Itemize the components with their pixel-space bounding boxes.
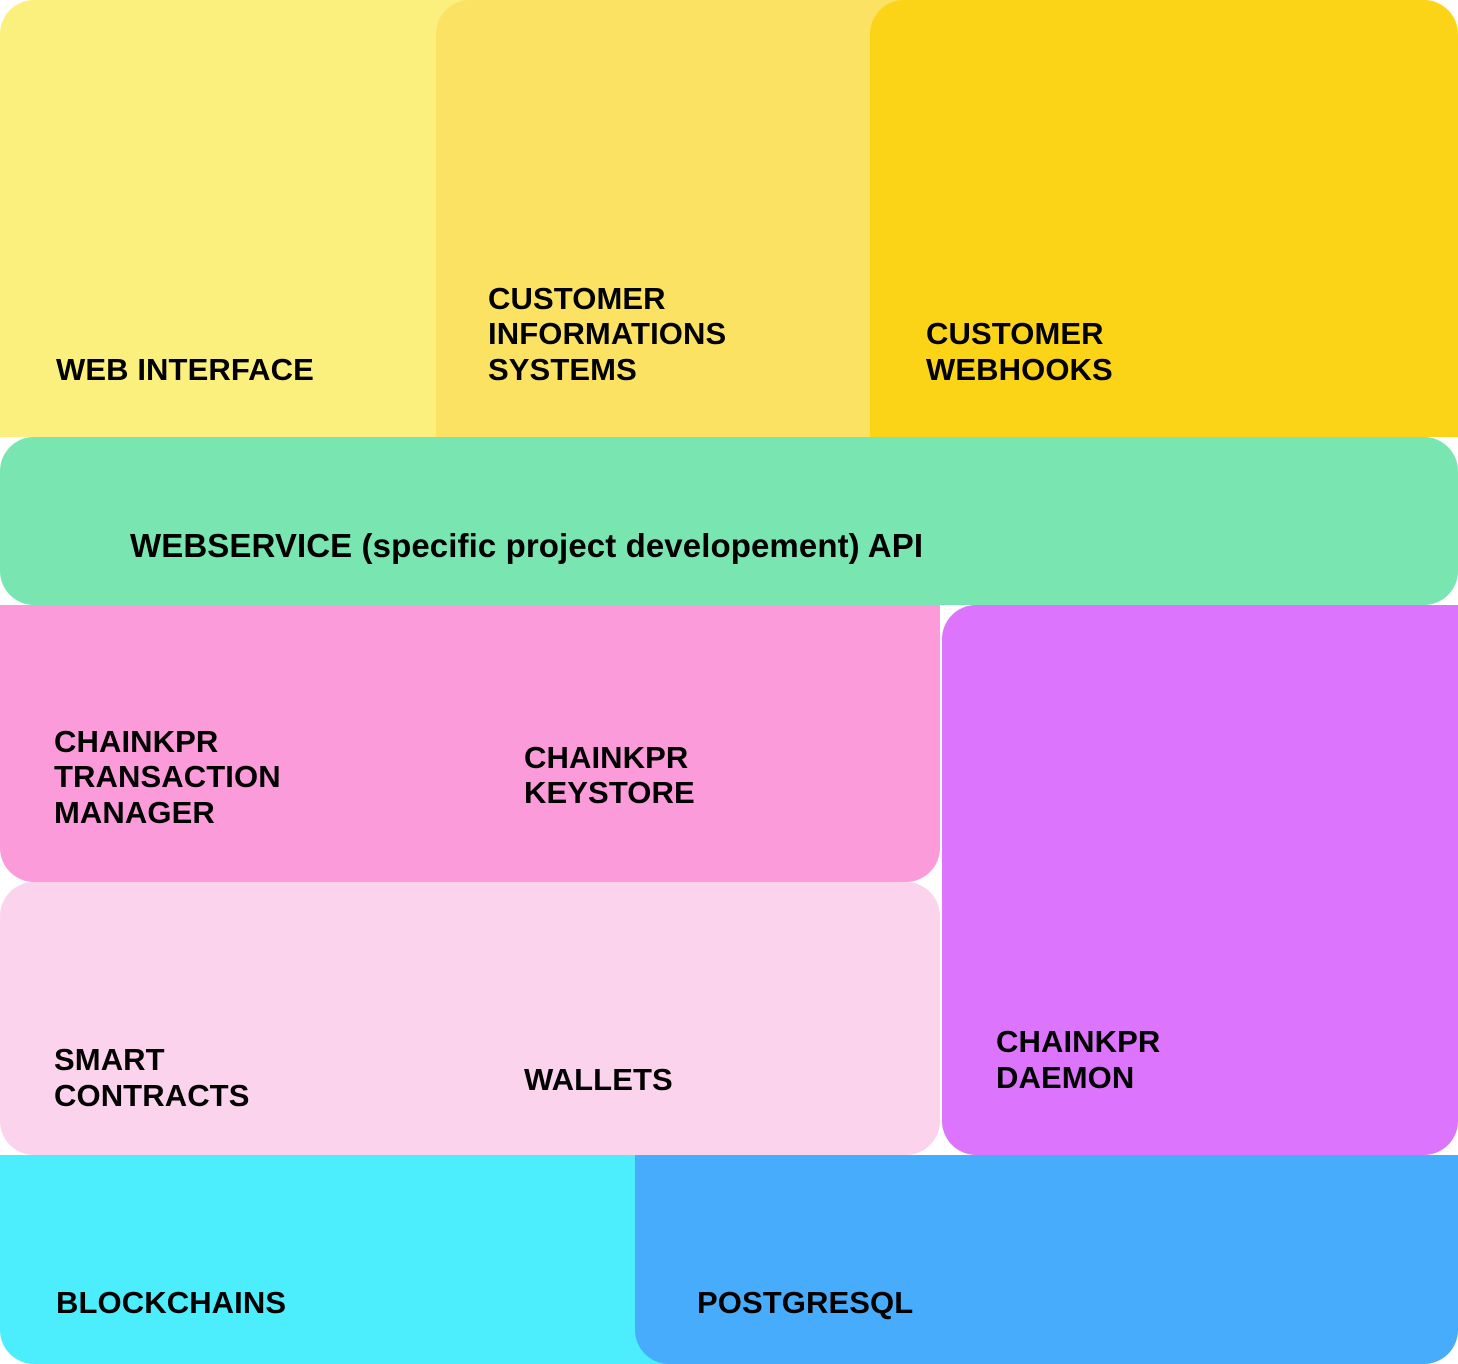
block-label-blockchains: BLOCKCHAINS: [0, 1285, 286, 1364]
block-label-smart-contracts: SMART CONTRACTS: [0, 1042, 250, 1155]
block-postgresql[interactable]: POSTGRESQL: [635, 1155, 1458, 1364]
block-webservice-api[interactable]: WEBSERVICE (specific project developemen…: [0, 437, 1458, 605]
block-label-web-interface: WEB INTERFACE: [0, 352, 314, 437]
block-blockchains[interactable]: BLOCKCHAINS: [0, 1155, 700, 1364]
block-smart-contracts[interactable]: SMART CONTRACTS: [0, 882, 940, 1155]
block-label-webservice-api: WEBSERVICE (specific project developemen…: [0, 527, 923, 605]
block-label-customer-information-systems: CUSTOMER INFORMATIONS SYSTEMS: [436, 281, 726, 437]
block-label-chainkpr-transaction-manager: CHAINKPR TRANSACTION MANAGER: [0, 724, 281, 882]
block-label-customer-webhooks: CUSTOMER WEBHOOKS: [870, 316, 1113, 437]
block-chainkpr-daemon[interactable]: CHAINKPR DAEMON: [942, 605, 1458, 1155]
block-label-chainkpr-keystore: CHAINKPR KEYSTORE: [524, 740, 695, 811]
block-chainkpr-transaction-manager[interactable]: CHAINKPR TRANSACTION MANAGER: [0, 605, 940, 882]
architecture-diagram: WEB INTERFACE CUSTOMER INFORMATIONS SYST…: [0, 0, 1458, 1364]
block-label-wallets: WALLETS: [524, 1062, 673, 1097]
block-customer-webhooks[interactable]: CUSTOMER WEBHOOKS: [870, 0, 1458, 437]
block-label-postgresql: POSTGRESQL: [635, 1285, 913, 1364]
block-label-chainkpr-daemon: CHAINKPR DAEMON: [942, 1024, 1160, 1155]
